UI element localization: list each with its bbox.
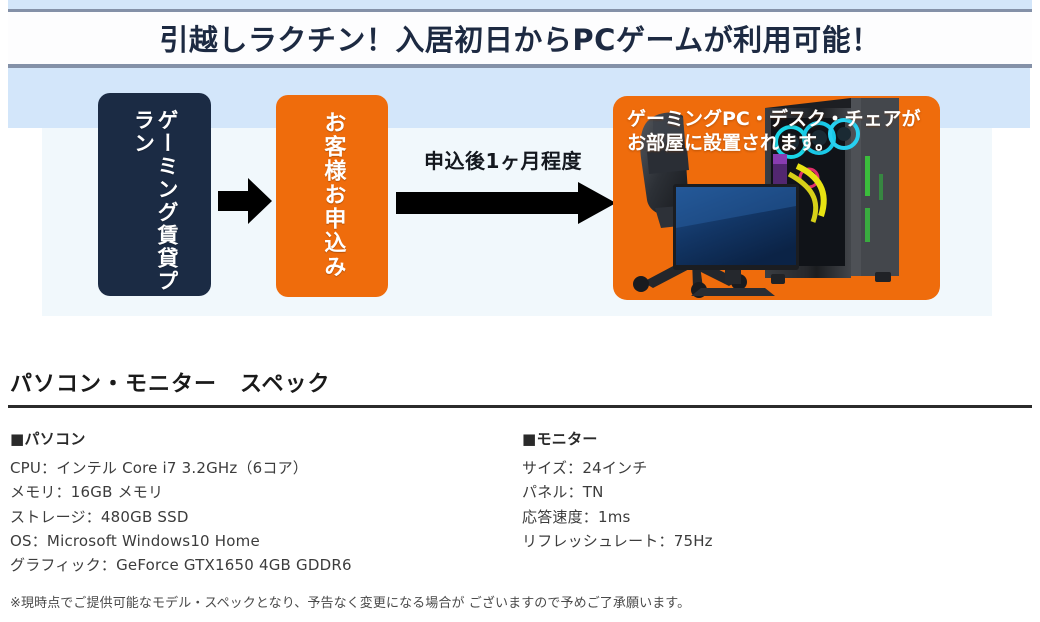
spec-monitor-line-size: サイズ：24インチ [522, 456, 942, 480]
long-right-arrow-icon [396, 182, 616, 224]
hero-top-strip [8, 0, 1032, 9]
spec-divider [8, 405, 1032, 408]
flow-result-text-line1: ゲーミングPC・デスク・チェアが [627, 108, 933, 132]
page-title: 引越しラクチン！入居初日からPCゲームが利用可能！ [159, 17, 880, 59]
spec-pc-line-cpu: CPU：インテル Core i7 3.2GHz（6コア） [10, 456, 500, 480]
flow-result-text-line2: お部屋に設置されます。 [627, 132, 933, 156]
flow-step-plan-label: ゲーミング賃貸プラン [131, 109, 178, 296]
spec-column-monitor: ■モニター サイズ：24インチ パネル：TN 応答速度：1ms リフレッシュレー… [522, 428, 942, 553]
flow-result-text: ゲーミングPC・デスク・チェアが お部屋に設置されます。 [627, 108, 933, 156]
spec-pc-group-title: ■パソコン [10, 428, 500, 449]
spec-pc-line-os: OS：Microsoft Windows10 Home [10, 529, 500, 553]
spec-monitor-line-panel: パネル：TN [522, 480, 942, 504]
spec-monitor-line-refresh: リフレッシュレート：75Hz [522, 529, 942, 553]
flow-result-card: ゲーミングPC・デスク・チェアが お部屋に設置されます。 [613, 96, 940, 300]
page-root: 引越しラクチン！入居初日からPCゲームが利用可能！ ゲーミング賃貸プラン お客様… [0, 0, 1040, 622]
spec-section-heading: パソコン・モニター スペック [10, 366, 330, 398]
hero-title-area: 引越しラクチン！入居初日からPCゲームが利用可能！ [8, 12, 1032, 64]
spec-monitor-line-response: 応答速度：1ms [522, 505, 942, 529]
spec-pc-line-storage: ストレージ：480GB SSD [10, 505, 500, 529]
flow-step-application-label: お客様お申込み [320, 111, 345, 279]
spec-monitor-group-title: ■モニター [522, 428, 942, 449]
spec-column-pc: ■パソコン CPU：インテル Core i7 3.2GHz（6コア） メモリ：1… [10, 428, 500, 577]
spec-pc-line-memory: メモリ：16GB メモリ [10, 480, 500, 504]
right-arrow-icon [218, 178, 272, 224]
flow-step-plan: ゲーミング賃貸プラン [98, 93, 211, 296]
spec-pc-line-graphics: グラフィック：GeForce GTX1650 4GB GDDR6 [10, 553, 500, 577]
spec-footnote: ※現時点でご提供可能なモデル・スペックとなり、予告なく変更になる場合が ございま… [10, 592, 1020, 611]
flow-step-application: お客様お申込み [276, 95, 388, 297]
flow-arrow-caption: 申込後1ヶ月程度 [398, 145, 608, 174]
